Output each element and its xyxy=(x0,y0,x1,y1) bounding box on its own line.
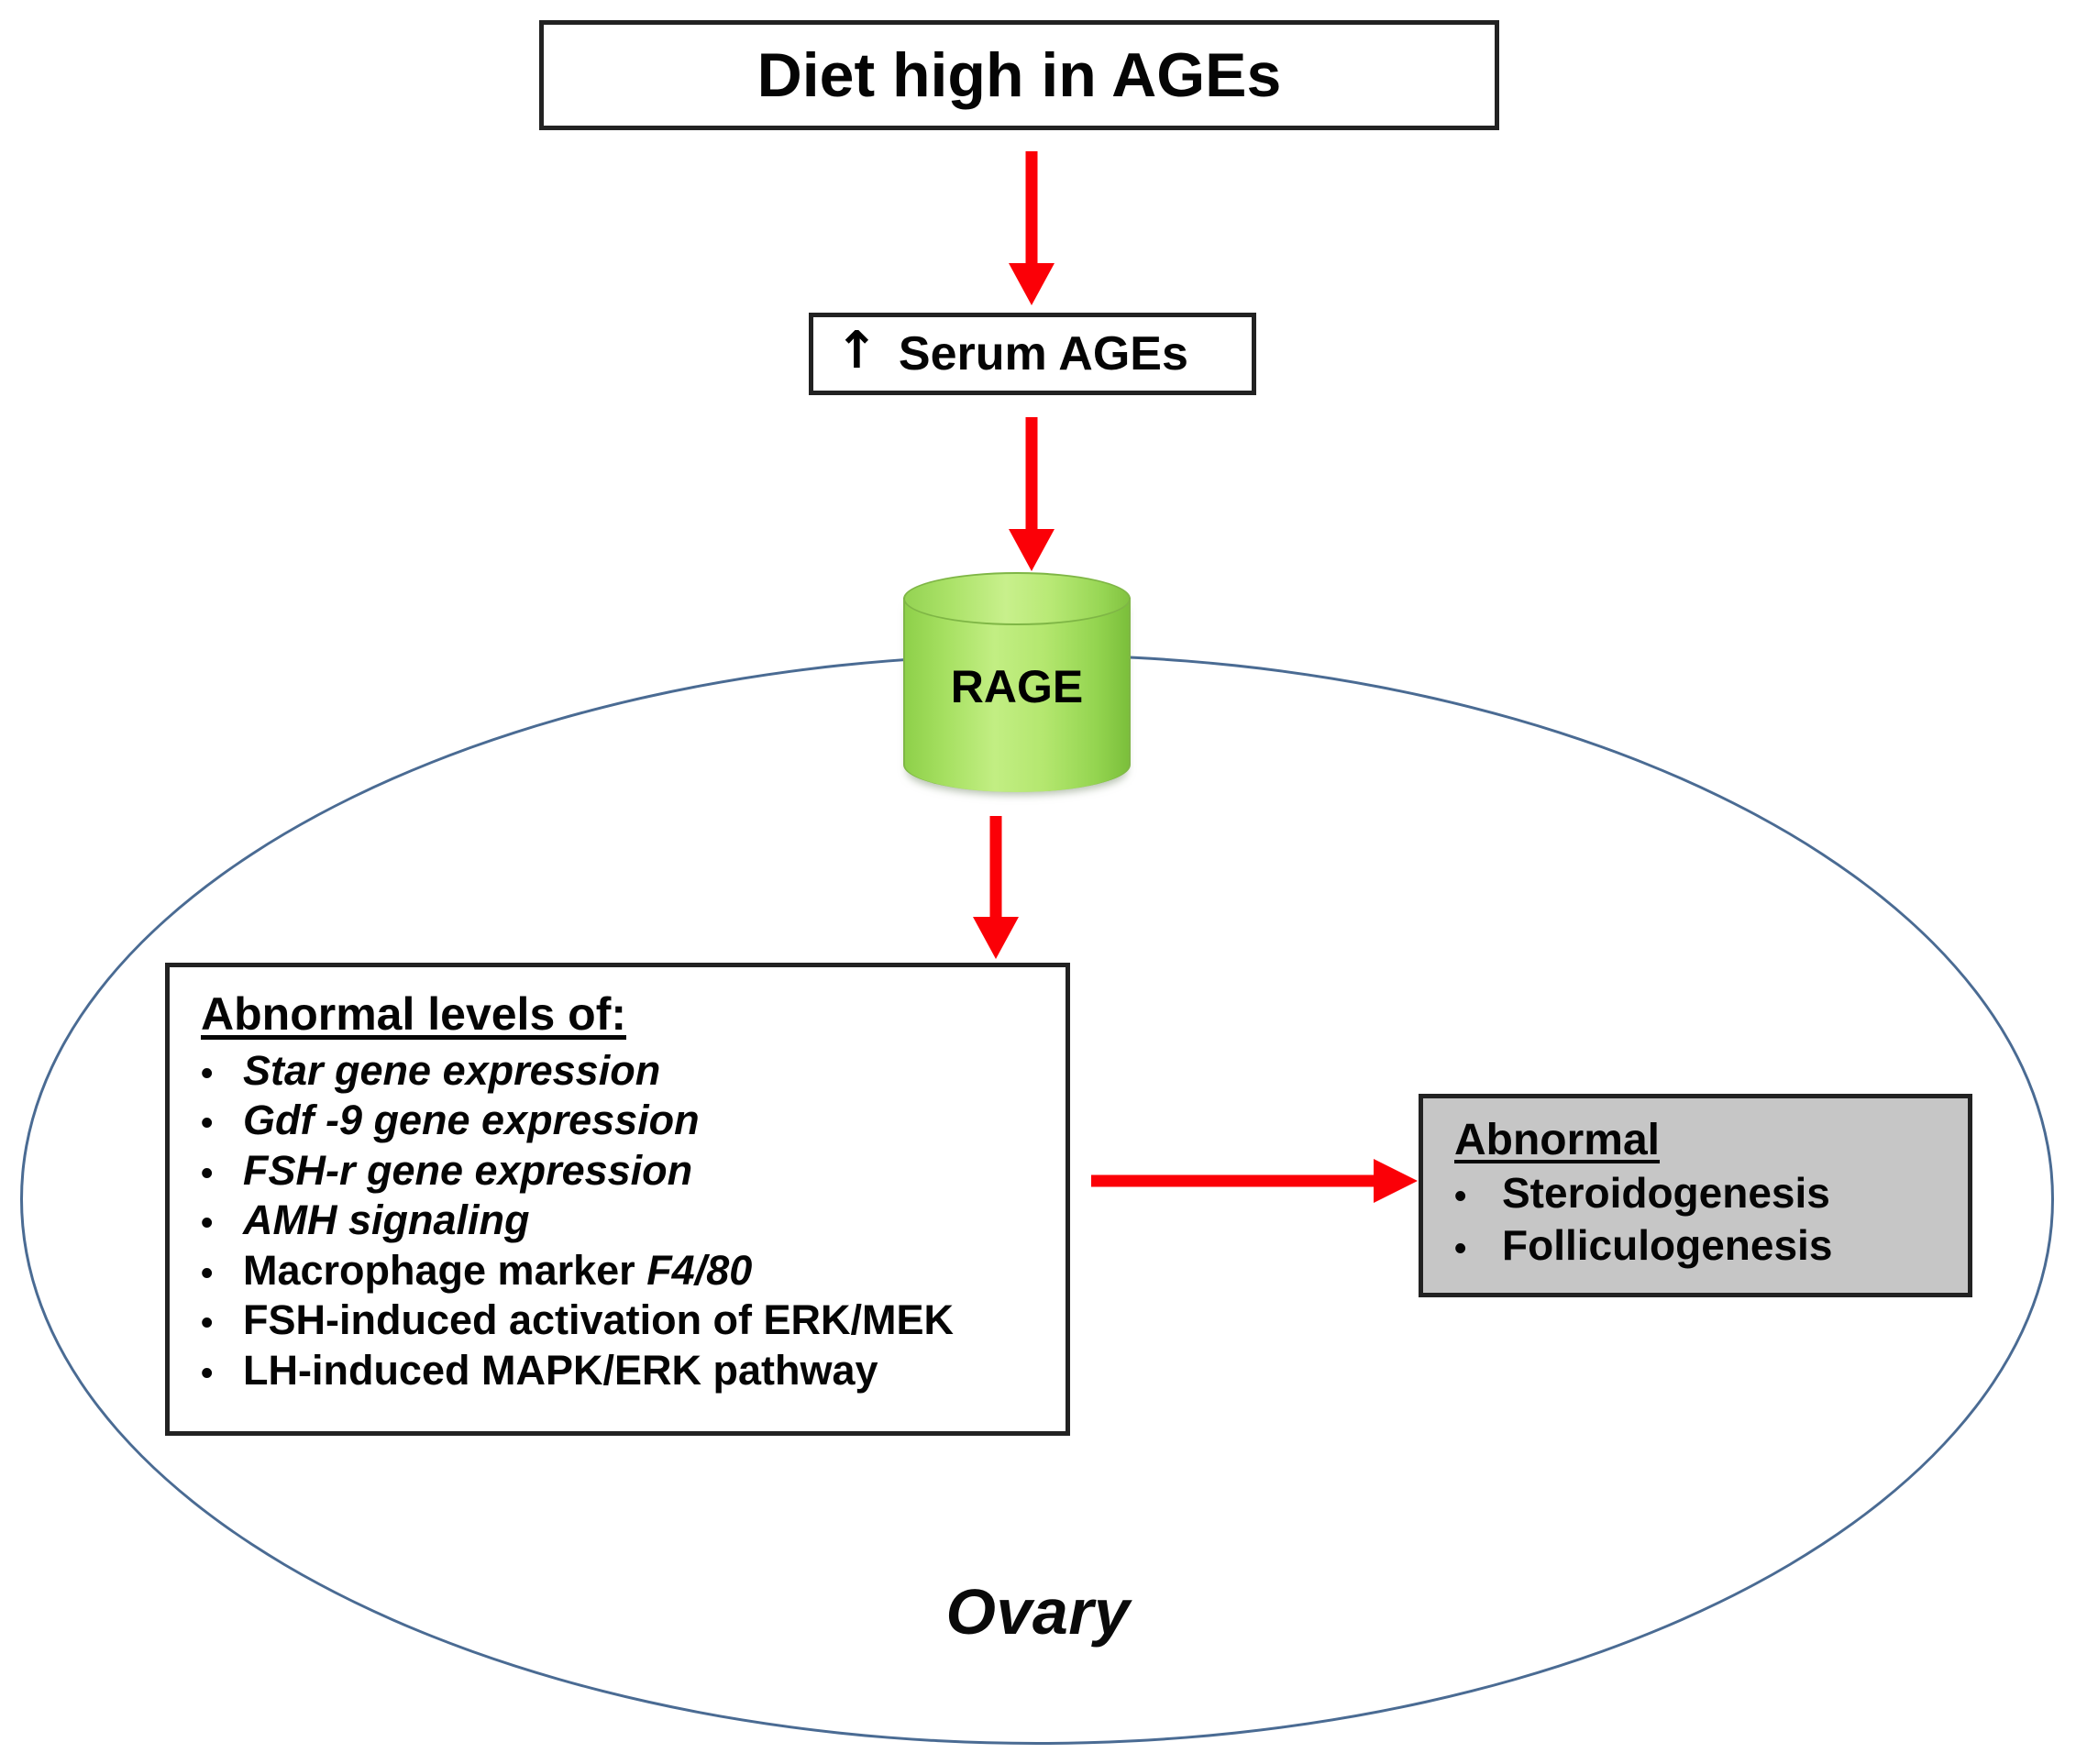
list-item-label: Gdf -9 gene expression xyxy=(243,1096,700,1145)
list-item: • Macrophage marker F4/80 xyxy=(201,1246,1066,1295)
diet-box-label: Diet high in AGEs xyxy=(757,39,1282,111)
list-item: • FSH-r gene expression xyxy=(201,1146,1066,1196)
list-item: • Steroidogenesis xyxy=(1454,1167,1968,1219)
serum-ages-box: ↑ Serum AGEs xyxy=(809,313,1256,395)
abnormal-levels-list: • Star gene expression • Gdf -9 gene exp… xyxy=(201,1046,1066,1395)
bullet-icon: • xyxy=(201,1206,243,1240)
serum-ages-label: Serum AGEs xyxy=(899,326,1188,381)
arrow-rage-to-levels xyxy=(968,816,1023,963)
diagram-canvas: Diet high in AGEs ↑ Serum AGEs RAGE Abno… xyxy=(0,0,2076,1764)
arrow-levels-to-outcome xyxy=(1091,1153,1421,1208)
abnormal-outcome-list: • Steroidogenesis • Folliculogenesis xyxy=(1454,1167,1968,1271)
cylinder-top-ellipse xyxy=(903,572,1131,625)
list-item-label: AMH signaling xyxy=(243,1196,530,1245)
abnormal-outcome-heading: Abnormal xyxy=(1454,1115,1660,1165)
abnormal-outcome-box: Abnormal • Steroidogenesis • Folliculoge… xyxy=(1419,1094,1972,1297)
abnormal-levels-heading: Abnormal levels of: xyxy=(201,987,626,1041)
increase-arrow-icon: ↑ xyxy=(835,325,878,377)
list-item-label: LH-induced MAPK/ERK pathway xyxy=(243,1346,878,1395)
rage-label: RAGE xyxy=(903,660,1131,713)
list-item: • LH-induced MAPK/ERK pathway xyxy=(201,1346,1066,1395)
bullet-icon: • xyxy=(1454,1231,1502,1266)
bullet-icon: • xyxy=(201,1256,243,1291)
list-item: • FSH-induced activation of ERK/MEK xyxy=(201,1295,1066,1345)
bullet-icon: • xyxy=(201,1156,243,1191)
bullet-icon: • xyxy=(201,1356,243,1391)
abnormal-levels-box: Abnormal levels of: • Star gene expressi… xyxy=(165,963,1070,1436)
ovary-label: Ovary xyxy=(0,1575,2076,1648)
list-item-label: Folliculogenesis xyxy=(1502,1219,1832,1272)
bullet-icon: • xyxy=(201,1306,243,1340)
list-item: • AMH signaling xyxy=(201,1196,1066,1245)
list-item: • Gdf -9 gene expression xyxy=(201,1096,1066,1145)
list-item-prefix: Macrophage marker xyxy=(243,1247,646,1294)
arrow-serum-to-rage xyxy=(1004,417,1059,573)
list-item: • Star gene expression xyxy=(201,1046,1066,1096)
list-item-label: Steroidogenesis xyxy=(1502,1167,1830,1219)
arrow-diet-to-serum xyxy=(1004,151,1059,307)
list-item-emphasis: F4/80 xyxy=(646,1247,752,1294)
list-item-label: FSH-induced activation of ERK/MEK xyxy=(243,1295,954,1345)
bullet-icon: • xyxy=(201,1106,243,1141)
list-item-label: Macrophage marker F4/80 xyxy=(243,1246,752,1295)
list-item-label: FSH-r gene expression xyxy=(243,1146,692,1196)
list-item: • Folliculogenesis xyxy=(1454,1219,1968,1272)
diet-high-in-ages-box: Diet high in AGEs xyxy=(539,20,1499,130)
bullet-icon: • xyxy=(201,1056,243,1091)
list-item-label: Star gene expression xyxy=(243,1046,660,1096)
bullet-icon: • xyxy=(1454,1179,1502,1214)
rage-receptor-cylinder: RAGE xyxy=(903,572,1131,810)
